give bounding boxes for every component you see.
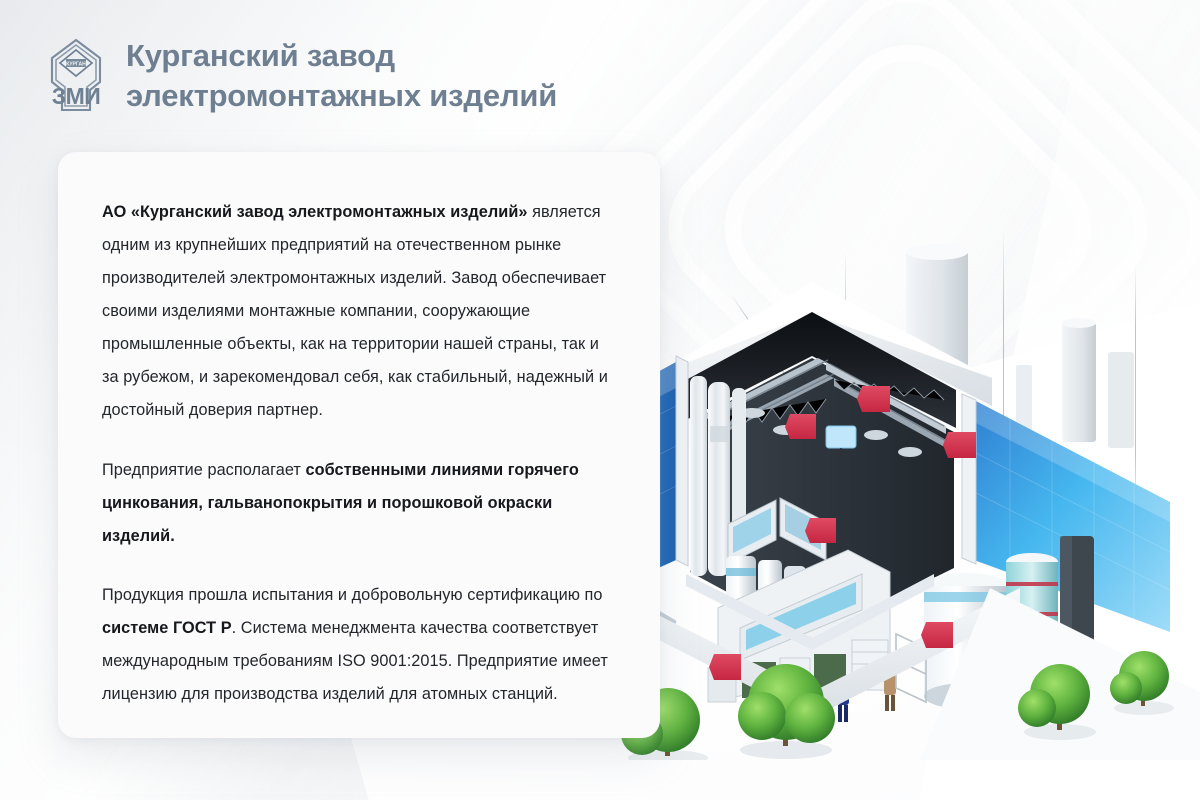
marker-ceiling-right	[857, 386, 890, 412]
paragraph-production-lines: Предприятие располагает собственными лин…	[102, 454, 618, 553]
factory-illustration	[590, 230, 1200, 760]
marker-tank	[921, 622, 953, 648]
text-run-bold: АО «Курганский завод электромонтажных из…	[102, 203, 532, 221]
page-title: Курганский завод электромонтажных издели…	[126, 36, 557, 115]
marker-wall-mid	[805, 518, 836, 543]
info-card: АО «Курганский завод электромонтажных из…	[58, 152, 660, 738]
text-run: является одним из крупнейших предприятий…	[102, 203, 608, 419]
text-run: Продукция прошла испытания и добровольну…	[102, 586, 603, 604]
factory-illustration-svg	[590, 230, 1200, 760]
info-card-body: АО «Курганский завод электромонтажных из…	[102, 196, 618, 711]
marker-ceiling-left	[785, 414, 816, 439]
poster-page: КУРГАН ЗМИ Курганский завод электромонта…	[0, 0, 1200, 800]
logo-letters: ЗМИ	[52, 83, 101, 109]
marker-ceiling-far	[943, 432, 976, 458]
text-run-bold: системе ГОСТ Р	[102, 619, 232, 637]
logo-badge-text: КУРГАН	[66, 61, 86, 67]
marker-machine-base	[709, 654, 741, 680]
company-logo-icon: КУРГАН ЗМИ	[48, 38, 104, 114]
page-header: КУРГАН ЗМИ Курганский завод электромонта…	[48, 36, 557, 115]
paragraph-company-overview: АО «Курганский завод электромонтажных из…	[102, 196, 618, 428]
paragraph-certification: Продукция прошла испытания и добровольну…	[102, 579, 618, 711]
text-run: Предприятие располагает	[102, 461, 306, 479]
